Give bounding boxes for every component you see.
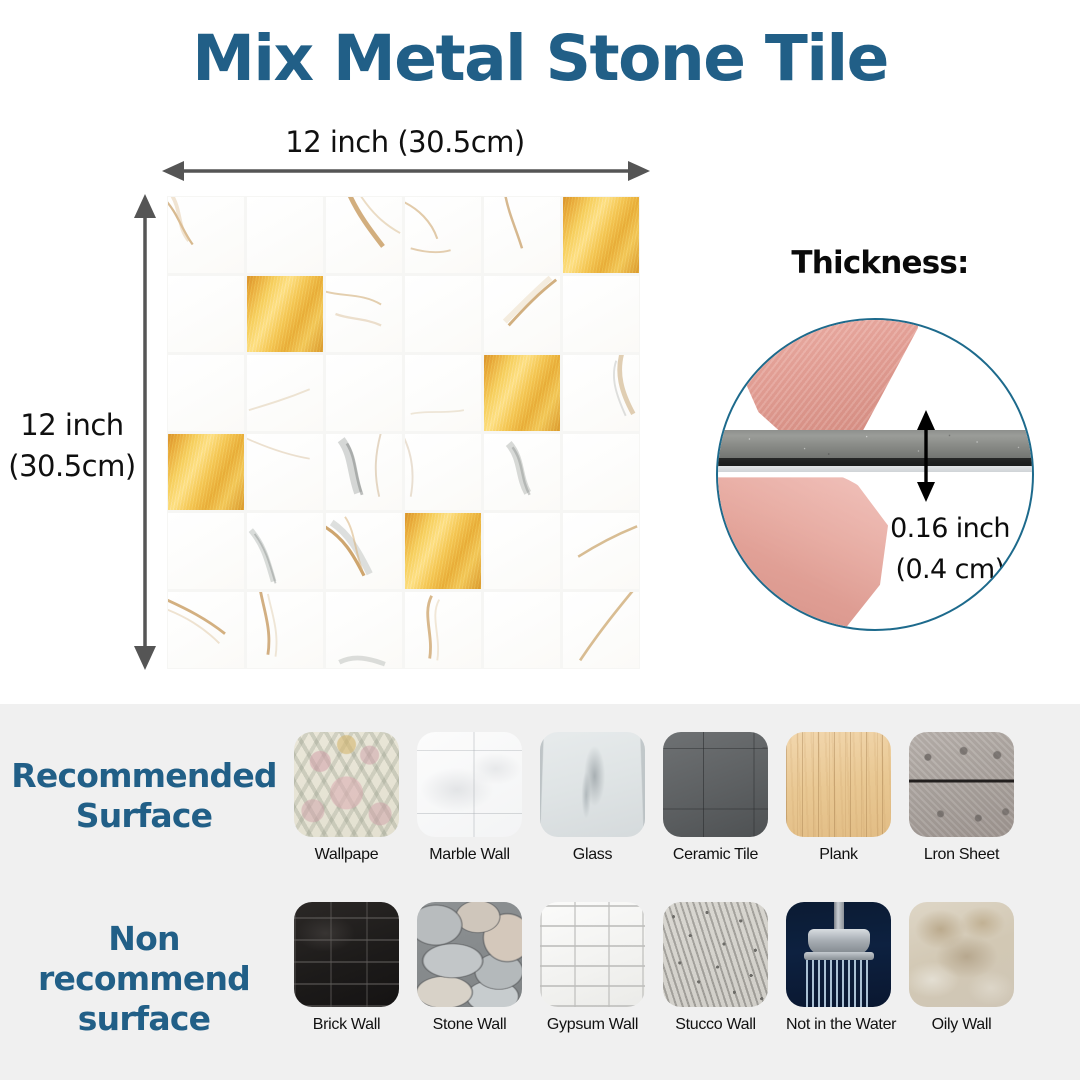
non-recommended-heading-line2: surface: [78, 999, 210, 1038]
plank-swatch-icon: [786, 732, 891, 837]
tile-cell: [405, 355, 481, 431]
tile-cell: [484, 592, 560, 668]
tile-cell: [405, 592, 481, 668]
height-dimension-label: 12 inch (30.5cm): [2, 405, 142, 487]
tile-cell-gold: [168, 434, 244, 510]
height-label-line2: (30.5cm): [8, 449, 135, 483]
surface-compatibility-section: Recommended Surface Wallpape Marble Wall…: [0, 704, 1080, 1080]
marble-wall-swatch-icon: [417, 732, 522, 837]
ceramic-tile-swatch-icon: [663, 732, 768, 837]
list-item[interactable]: Oily Wall: [909, 902, 1014, 1034]
tile-cell: [326, 592, 402, 668]
tile-cell: [484, 513, 560, 589]
list-item[interactable]: Lron Sheet: [909, 732, 1014, 864]
glass-swatch-icon: [540, 732, 645, 837]
list-item[interactable]: Not in the Water: [786, 902, 891, 1034]
iron-sheet-swatch-icon: [909, 732, 1014, 837]
list-item-label: Stone Wall: [417, 1016, 522, 1034]
list-item[interactable]: Ceramic Tile: [663, 732, 768, 864]
recommended-heading-line2: Surface: [76, 796, 213, 835]
recommended-surface-heading: Recommended Surface: [0, 756, 288, 836]
list-item-label: Wallpape: [294, 846, 399, 864]
list-item-label: Ceramic Tile: [663, 846, 768, 864]
thickness-value-label: 0.16 inch (0.4 cm): [860, 508, 1034, 590]
tile-cell: [484, 197, 560, 273]
list-item-label: Glass: [540, 846, 645, 864]
wallpaper-swatch-icon: [294, 732, 399, 837]
list-item[interactable]: Stone Wall: [417, 902, 522, 1034]
tile-cell: [563, 592, 639, 668]
list-item[interactable]: Plank: [786, 732, 891, 864]
tile-edge-cross-section: [716, 430, 1034, 472]
width-dimension-arrow: [160, 158, 652, 184]
shower-water-swatch-icon: [786, 902, 891, 1007]
tile-cell: [563, 276, 639, 352]
tile-cell: [247, 434, 323, 510]
tile-cell: [563, 513, 639, 589]
list-item-label: Oily Wall: [909, 1016, 1014, 1034]
list-item-label: Not in the Water: [786, 1016, 891, 1034]
tile-cell: [326, 434, 402, 510]
list-item[interactable]: Wallpape: [294, 732, 399, 864]
tile-cell: [168, 592, 244, 668]
recommended-heading-line1: Recommended: [11, 756, 277, 795]
thickness-value-line2: (0.4 cm): [896, 554, 1005, 585]
height-label-line1: 12 inch: [20, 408, 123, 442]
oily-wall-swatch-icon: [909, 902, 1014, 1007]
tile-cell-gold: [247, 276, 323, 352]
list-item[interactable]: Marble Wall: [417, 732, 522, 864]
tile-cell: [326, 276, 402, 352]
list-item-label: Stucco Wall: [663, 1016, 768, 1034]
thickness-value-line1: 0.16 inch: [890, 513, 1010, 544]
tile-cell: [484, 434, 560, 510]
thickness-measure-arrow: [914, 410, 938, 502]
recommended-surface-list: Wallpape Marble Wall Glass Ceramic Tile …: [294, 732, 1014, 864]
tile-cell: [168, 197, 244, 273]
tile-cell-gold: [405, 513, 481, 589]
list-item[interactable]: Stucco Wall: [663, 902, 768, 1034]
page-title: Mix Metal Stone Tile: [0, 22, 1080, 95]
gypsum-wall-swatch-icon: [540, 902, 645, 1007]
tile-cell-gold: [484, 355, 560, 431]
tile-cell: [405, 197, 481, 273]
tile-cell: [168, 513, 244, 589]
width-dimension-label: 12 inch (30.5cm): [165, 125, 645, 159]
list-item-label: Gypsum Wall: [540, 1016, 645, 1034]
list-item[interactable]: Glass: [540, 732, 645, 864]
tile-cell: [405, 434, 481, 510]
thickness-heading: Thickness:: [700, 245, 1060, 281]
list-item-label: Plank: [786, 846, 891, 864]
product-spec-section: Mix Metal Stone Tile 12 inch (30.5cm) 12…: [0, 0, 1080, 704]
list-item[interactable]: Gypsum Wall: [540, 902, 645, 1034]
height-dimension-arrow: [130, 192, 160, 672]
list-item[interactable]: Brick Wall: [294, 902, 399, 1034]
tile-cell-gold: [563, 197, 639, 273]
stucco-wall-swatch-icon: [663, 902, 768, 1007]
tile-cell: [405, 276, 481, 352]
brick-wall-swatch-icon: [294, 902, 399, 1007]
non-recommended-surface-list: Brick Wall Stone Wall Gypsum Wall Stucco…: [294, 902, 1014, 1034]
non-recommended-surface-heading: Non recommend surface: [0, 919, 288, 1039]
list-item-label: Brick Wall: [294, 1016, 399, 1034]
stone-wall-swatch-icon: [417, 902, 522, 1007]
tile-cell: [247, 592, 323, 668]
tile-cell: [168, 276, 244, 352]
tile-product-image: [167, 196, 640, 669]
tile-cell: [168, 355, 244, 431]
tile-cell: [326, 355, 402, 431]
tile-cell: [484, 276, 560, 352]
tile-cell: [247, 197, 323, 273]
tile-cell: [247, 513, 323, 589]
list-item-label: Marble Wall: [417, 846, 522, 864]
non-recommended-heading-line1: Non recommend: [38, 919, 250, 998]
tile-cell: [563, 355, 639, 431]
tile-cell: [247, 355, 323, 431]
tile-cell: [326, 197, 402, 273]
thickness-detail-photo: 0.16 inch (0.4 cm): [716, 318, 1034, 631]
tile-cell: [563, 434, 639, 510]
tile-cell: [326, 513, 402, 589]
list-item-label: Lron Sheet: [909, 846, 1014, 864]
